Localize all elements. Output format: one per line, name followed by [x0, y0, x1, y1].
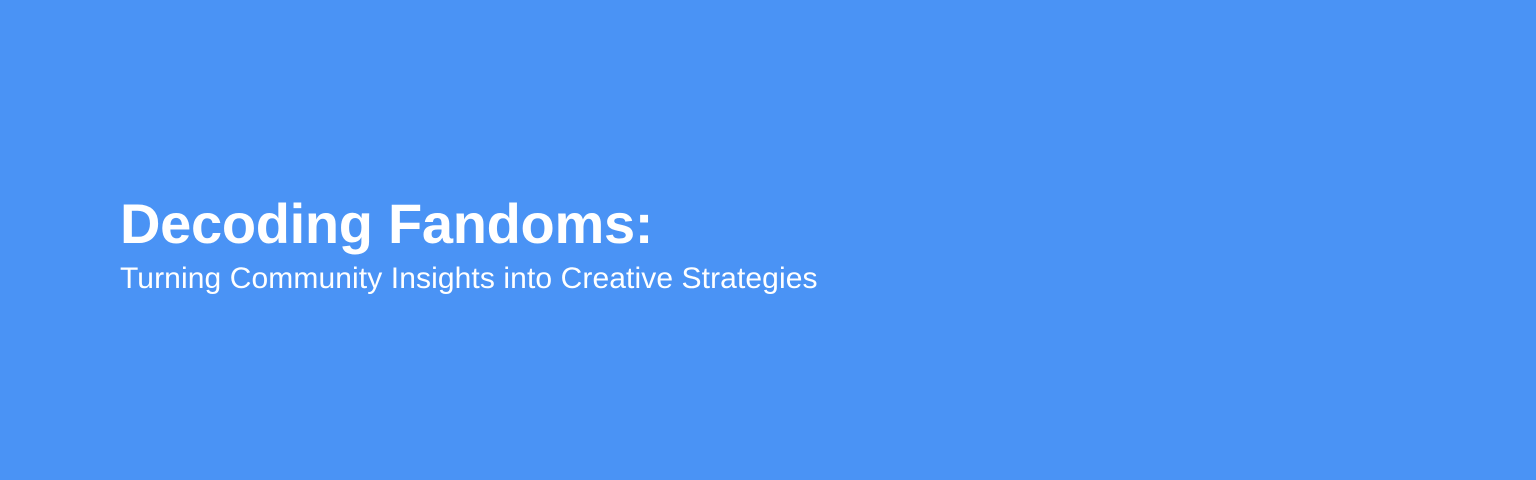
hero-banner: Decoding Fandoms: Turning Community Insi…: [0, 0, 1536, 480]
page-title: Decoding Fandoms:: [120, 196, 653, 252]
page-subtitle: Turning Community Insights into Creative…: [120, 262, 818, 297]
title-block: Decoding Fandoms: Turning Community Insi…: [120, 196, 818, 297]
